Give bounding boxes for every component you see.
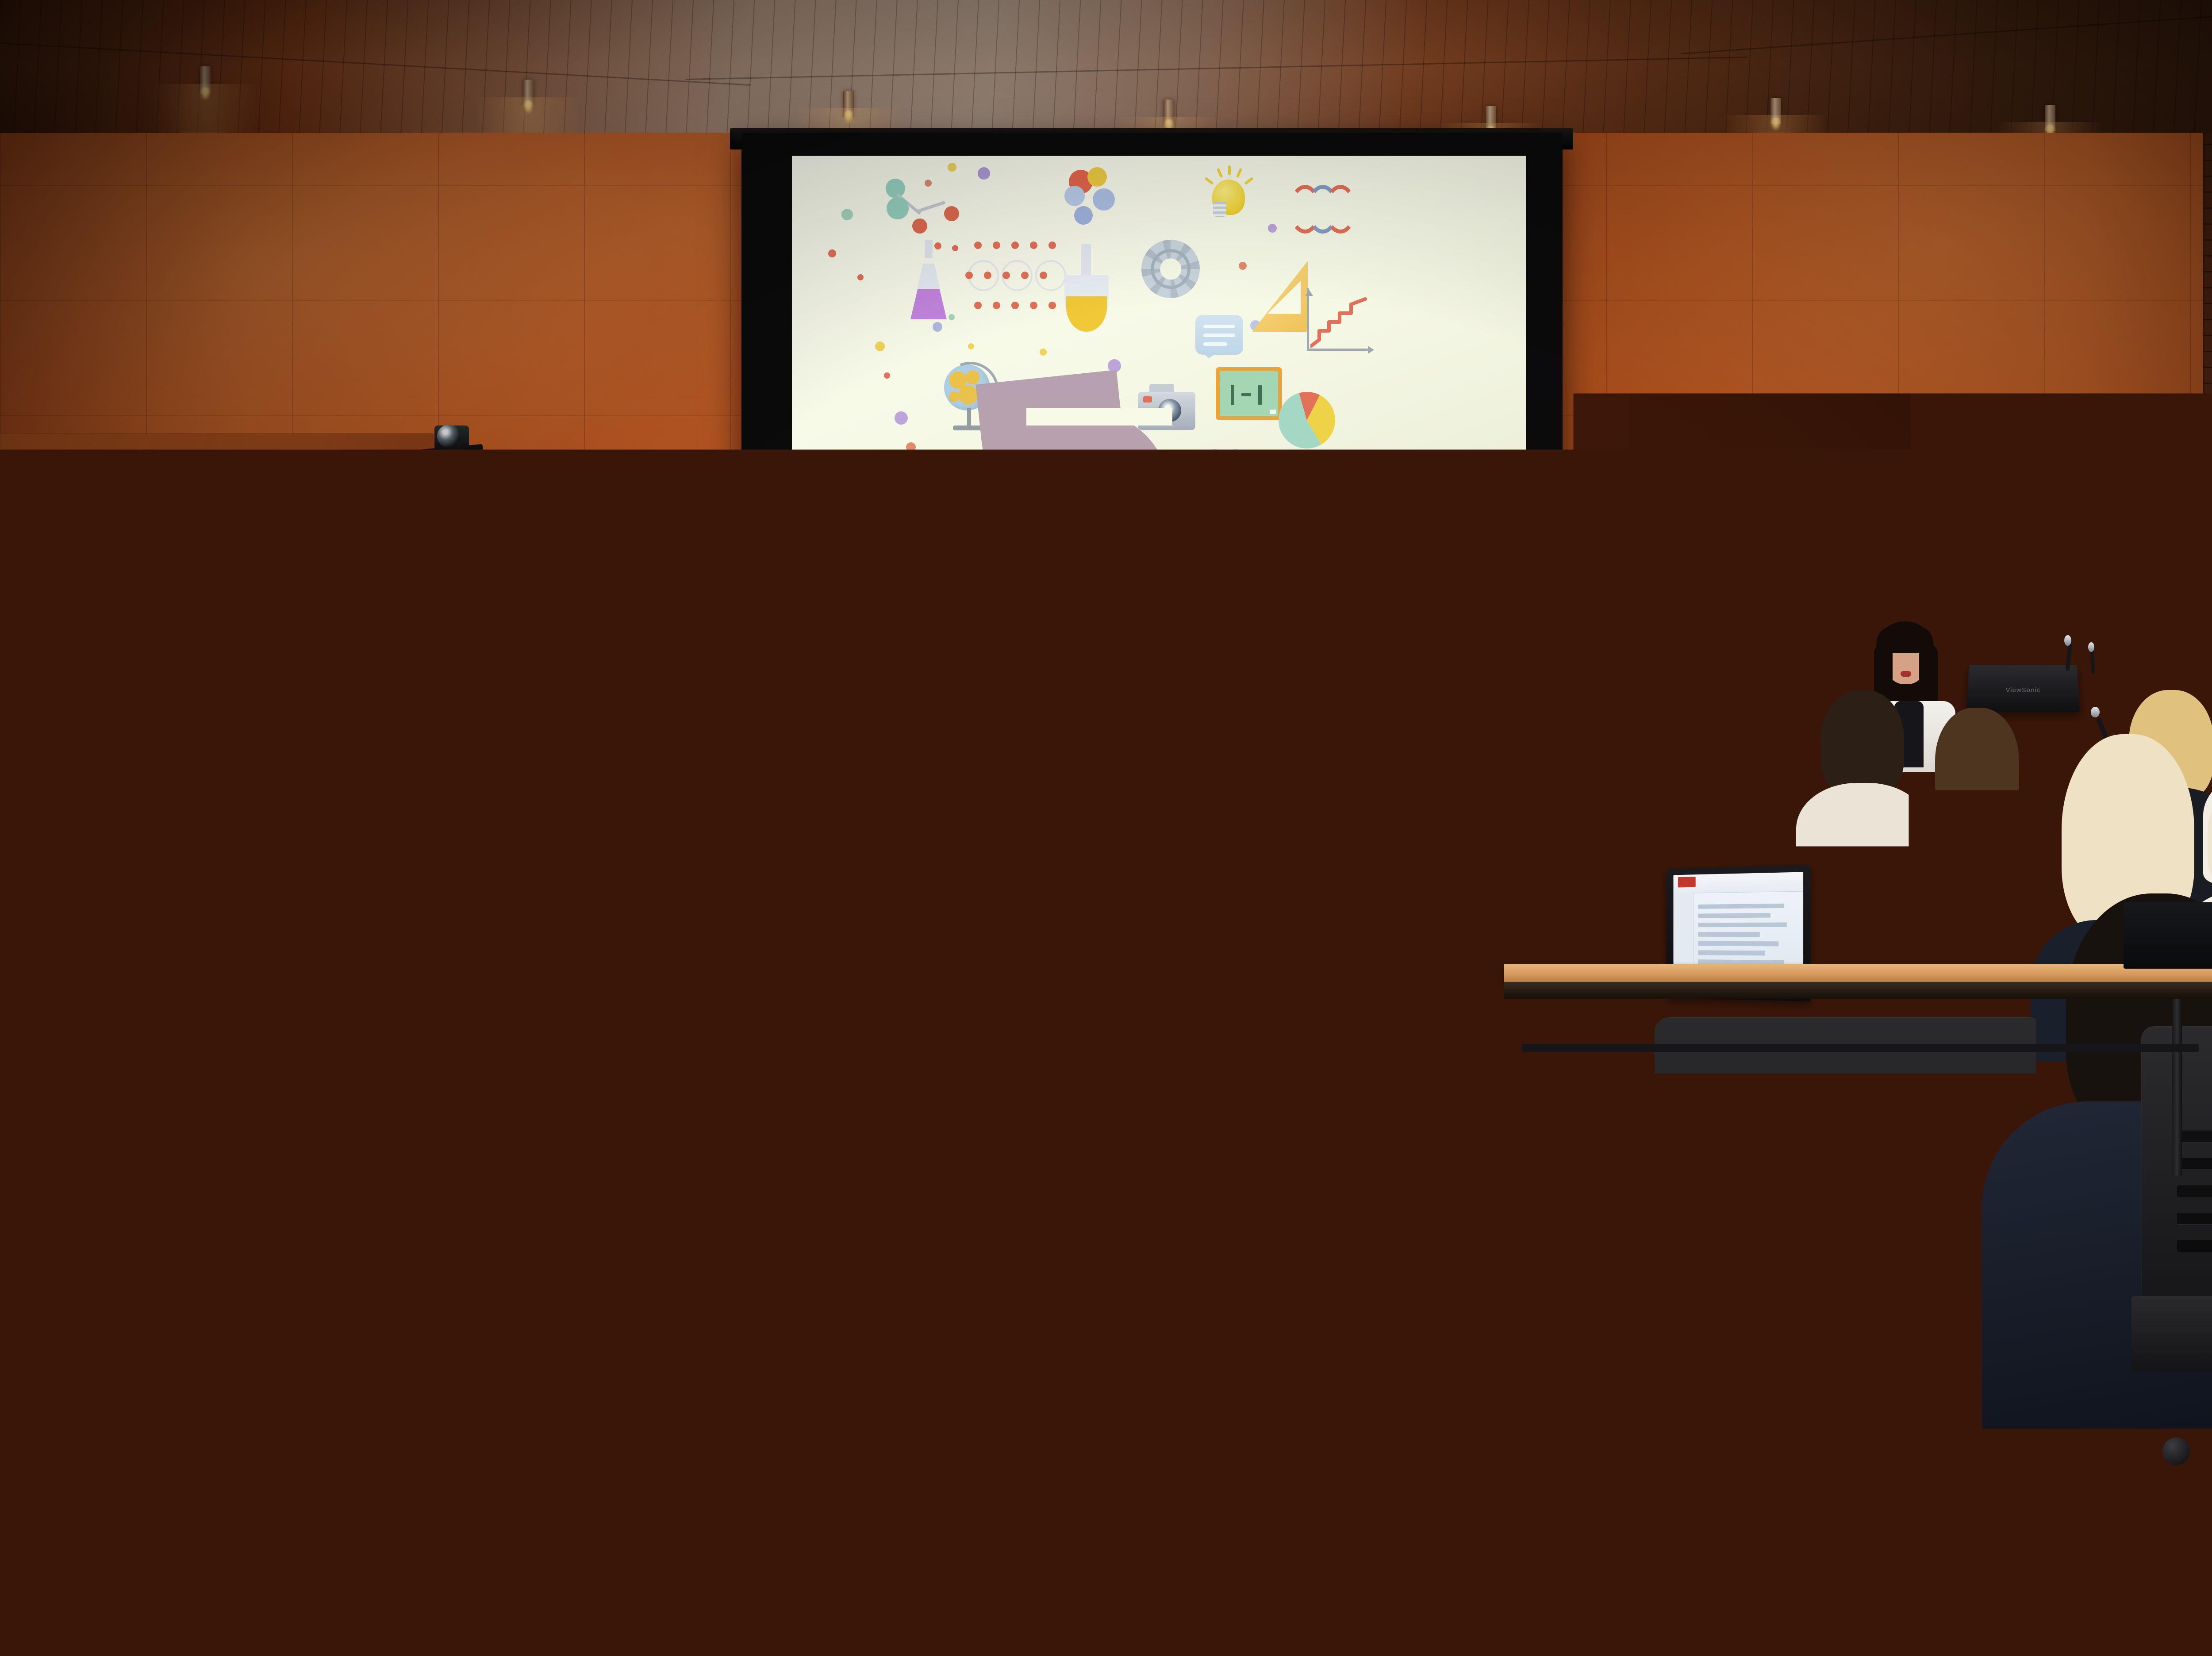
pendant-light <box>843 91 854 117</box>
clock-center-pin <box>103 517 107 521</box>
torso <box>920 756 1057 858</box>
sandal <box>633 1460 734 1513</box>
chair-backrest <box>902 973 1071 1105</box>
partition-floor-vent <box>1310 929 1455 938</box>
chair-backrest <box>1655 1017 2044 1305</box>
right-wall-clock <box>2122 510 2186 574</box>
clock-center-pin <box>2152 540 2156 544</box>
decorative-dot <box>1241 505 1251 515</box>
microphone-head <box>2091 707 2100 717</box>
decorative-dot <box>962 488 968 494</box>
camera-icon <box>437 425 460 448</box>
pendant-light <box>1770 98 1781 124</box>
decorative-dot <box>828 249 836 257</box>
chair-caster <box>459 1477 488 1506</box>
round-flask-yellow-icon <box>1062 244 1111 337</box>
decorative-dot <box>841 209 853 220</box>
speech-bubble-icon <box>1195 315 1248 368</box>
table <box>71 1000 717 1016</box>
decorative-dot <box>926 484 935 494</box>
hex-lattice-icon <box>965 235 1063 328</box>
decorative-dot <box>968 343 974 349</box>
decorative-dot <box>1205 507 1214 516</box>
chair-caster <box>1041 1173 1058 1191</box>
decorative-dot <box>949 314 955 320</box>
chair-seat <box>422 1327 844 1407</box>
table-leg <box>2172 999 2182 1176</box>
table-leg <box>1535 999 1545 1176</box>
shoe <box>27 1460 159 1530</box>
molecule-icon <box>874 180 963 246</box>
atom-orbit-icon <box>1194 442 1251 500</box>
app-accent <box>1678 877 1695 887</box>
chair-backrest <box>434 1044 832 1332</box>
water-bottle[interactable] <box>1385 759 1400 812</box>
atom-cluster-icon <box>1064 167 1131 238</box>
hair <box>533 715 667 794</box>
monitor-brand-label: ViewSonic <box>1967 686 2079 694</box>
microphone-head <box>2064 635 2071 646</box>
head-neck <box>1055 554 1139 602</box>
fire-alarm-handle <box>7 538 27 544</box>
open-minded-head-silhouette <box>982 377 1194 602</box>
head-open-top <box>1026 408 1172 425</box>
chair-seat <box>898 1103 1076 1139</box>
pendant-light <box>1164 100 1174 126</box>
presentation-slide: ABC <box>792 156 1526 602</box>
left-wall-clock <box>67 481 142 556</box>
conference-room-scene: EXIT WISCONSIN <box>0 0 2212 1656</box>
chair[interactable] <box>902 973 1071 1185</box>
head-face-notch <box>1146 465 1168 497</box>
decorative-dot <box>1040 349 1047 356</box>
chair-caster <box>1679 1450 1708 1478</box>
pendant-light <box>523 80 534 107</box>
decorative-dot <box>1268 224 1277 233</box>
projection-screen: ABC <box>792 156 1526 602</box>
partition-door-handle[interactable] <box>1171 792 1175 845</box>
partition-door-handle[interactable] <box>1161 792 1165 845</box>
decorative-dot <box>884 372 890 379</box>
table <box>1504 964 2212 982</box>
chair-seat <box>2131 1296 2212 1371</box>
clock-glass-reflection <box>81 530 115 550</box>
whiteboard-icon <box>1216 367 1282 420</box>
decorative-dot <box>895 411 908 425</box>
ceiling-slat-texture <box>0 0 2212 146</box>
chair-caster <box>283 1544 311 1571</box>
decorative-dot <box>978 167 990 180</box>
table-support-rail <box>1522 1044 2199 1052</box>
shoe <box>1796 1446 1902 1504</box>
decorative-dot <box>906 442 916 452</box>
podium-monitor[interactable]: ViewSonic <box>1966 665 2080 712</box>
chair[interactable] <box>434 1044 832 1508</box>
decorative-dot <box>933 322 942 332</box>
torso <box>1411 814 1544 924</box>
lightbulb-icon <box>1203 168 1256 248</box>
bottle-label <box>1385 774 1400 794</box>
floor-equipment-box <box>2124 902 2212 969</box>
chair-caster <box>772 1477 801 1506</box>
ceiling <box>0 0 2212 146</box>
hair <box>1436 708 1519 827</box>
table-edge <box>1504 982 2212 999</box>
presenter-mouth <box>1901 671 1911 677</box>
chair-caster <box>18 1544 45 1571</box>
pie-chart-icon <box>1279 392 1335 448</box>
decorative-dot <box>857 274 864 280</box>
chair-caster <box>912 1173 930 1191</box>
backpack-zipper <box>849 1260 916 1266</box>
microphone-head <box>2088 642 2094 652</box>
dna-helix-icon <box>1286 181 1353 230</box>
shoe <box>2154 1380 2212 1468</box>
gear-icon <box>1141 240 1200 298</box>
sandal <box>522 1464 619 1517</box>
audience-member <box>1411 708 1544 898</box>
bottle-cap[interactable] <box>1387 754 1397 760</box>
chair-backrest <box>0 1132 336 1407</box>
pendant-light <box>200 66 211 94</box>
decorative-dot <box>1239 262 1247 270</box>
table-edge <box>71 1016 717 1032</box>
decorative-dot <box>952 245 958 251</box>
triangle-ruler-icon <box>1252 261 1308 332</box>
audience-member <box>920 672 1057 840</box>
pendant-light <box>2045 105 2055 131</box>
line-graph-icon <box>1301 288 1376 359</box>
shoe <box>2053 1371 2150 1460</box>
decorative-dot <box>948 163 956 172</box>
erlenmeyer-flask-purple-icon <box>910 240 947 319</box>
projection-screen-weight-bar <box>787 600 1531 609</box>
decorative-dot <box>875 341 885 351</box>
fire-alarm-pull-station[interactable] <box>3 529 28 554</box>
handbag[interactable] <box>1349 955 1425 1013</box>
chair-caster <box>1986 1450 2015 1478</box>
hair <box>945 672 1032 770</box>
